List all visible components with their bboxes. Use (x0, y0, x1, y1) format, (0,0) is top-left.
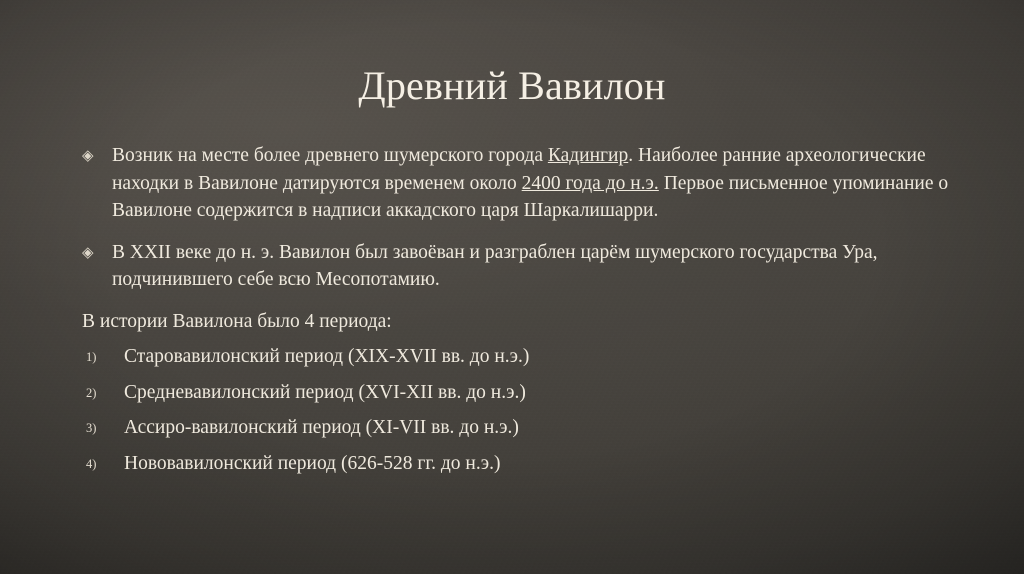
list-item-marker: 2) (86, 383, 96, 403)
list-item: 4) Нововавилонский период (626-528 гг. д… (82, 450, 980, 477)
periods-intro-line: В истории Вавилона было 4 периода: (82, 308, 980, 336)
slide-body: ◈ Возник на месте более древнего шумерск… (82, 142, 980, 485)
underlined-text: 2400 года до н.э. (522, 173, 659, 194)
list-item-label: Средневавилонский период (XVI-XII вв. до… (124, 382, 526, 403)
list-item: 1) Старовавилонский период (XIX-XVII вв.… (82, 343, 980, 370)
bullet-paragraph-1: ◈ Возник на месте более древнего шумерск… (82, 142, 980, 225)
list-item-marker: 3) (86, 418, 96, 438)
presentation-slide: Древний Вавилон ◈ Возник на месте более … (0, 0, 1024, 574)
diamond-bullet-icon: ◈ (82, 143, 94, 170)
periods-list: 1) Старовавилонский период (XIX-XVII вв.… (82, 343, 980, 477)
list-item-marker: 4) (86, 454, 96, 474)
bullet-paragraph-2: ◈ В XXII веке до н. э. Вавилон был завоё… (82, 239, 980, 294)
page-title: Древний Вавилон (0, 64, 1024, 108)
diamond-bullet-icon: ◈ (82, 240, 94, 267)
slide-content: Древний Вавилон ◈ Возник на месте более … (0, 0, 1024, 574)
bullet-paragraph-2-text: В XXII веке до н. э. Вавилон был завоёва… (112, 242, 877, 291)
list-item-label: Старовавилонский период (XIX-XVII вв. до… (124, 346, 529, 367)
list-item: 3) Ассиро-вавилонский период (XI-VII вв.… (82, 414, 980, 441)
underlined-text: Кадингир (548, 145, 628, 166)
list-item-marker: 1) (86, 347, 96, 367)
bullet-paragraph-1-text: Возник на месте более древнего шумерског… (112, 145, 948, 221)
list-item-label: Ассиро-вавилонский период (XI-VII вв. до… (124, 417, 519, 438)
list-item: 2) Средневавилонский период (XVI-XII вв.… (82, 379, 980, 406)
list-item-label: Нововавилонский период (626-528 гг. до н… (124, 453, 500, 474)
